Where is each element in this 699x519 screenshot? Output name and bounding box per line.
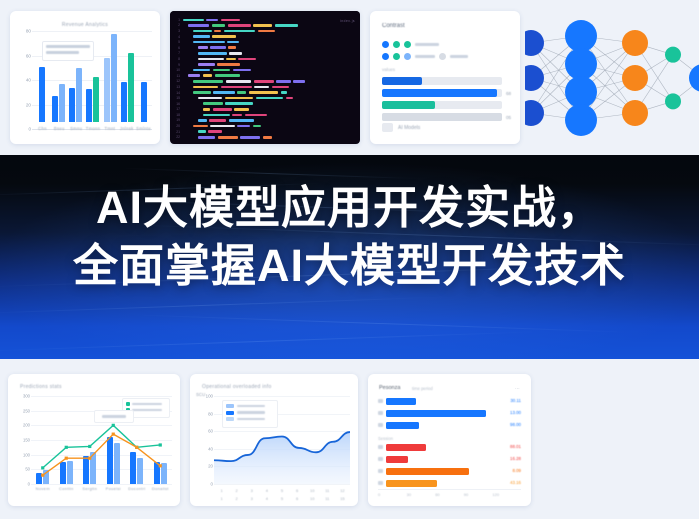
x-tick: Bseu [51,126,68,136]
code-token [272,86,289,89]
y-tick: 0 [28,482,30,487]
gridline [31,484,172,485]
code-token [193,69,210,72]
progress-track-4 [382,113,502,121]
code-token [203,102,223,105]
progress-fill-2 [382,89,497,97]
bar-chart-bars [34,24,152,122]
area-legend-entry-2 [226,411,274,415]
y-tick: 200 [23,423,30,428]
y-tick: 40 [26,78,31,83]
bar [59,84,65,122]
code-token [193,35,210,38]
code-token [206,19,218,22]
data-point [159,443,162,446]
bottom-screenshot-strip: Predictions stats 300250200150100500 Nov… [0,359,699,519]
code-token [210,46,225,49]
x-tick: Novem [31,486,55,491]
data-point [88,457,91,460]
code-token [203,108,210,111]
nn-node [622,30,648,56]
code-token [254,80,274,83]
data-point [65,457,68,460]
hbar-value: 16.28 [510,456,521,461]
bar-group [85,24,100,122]
legend-dot-grey [439,53,446,60]
x-tick: 10 [305,488,320,493]
nn-node [565,104,597,136]
bar-group [34,24,49,122]
dashboard-legend-row-2 [382,53,468,60]
code-editor-card[interactable]: index.js 1234567891011121314151617181920… [170,11,360,144]
bar-chart-legend [42,41,94,61]
hbar-row: 16.28 [378,456,521,463]
code-token [225,102,253,105]
x-tick: 1 [214,488,229,493]
title-line-2: 全面掌握AI大模型开发技术 [0,237,699,295]
hbar-row-label [378,411,383,415]
progress-fill-3 [382,101,435,109]
combo-chart-y-axis: 300250200150100500 [12,396,30,484]
code-token [227,41,239,44]
line-number: 9 [174,63,183,67]
y-tick: 250 [23,408,30,413]
hbar-bar [386,444,426,451]
code-token [293,80,305,83]
bar-group [103,24,118,122]
hbar-axis-line [378,489,521,490]
code-token [198,46,208,49]
deco-line [120,314,640,333]
progress-track-2 [382,89,502,97]
code-token [233,69,251,72]
line-number: 21 [174,130,183,134]
y-tick: 60 [208,429,213,434]
x-tick-alt: 3 [244,496,259,501]
code-token [226,58,236,61]
code-token [276,80,290,83]
code-token [198,52,227,55]
bar [69,88,75,122]
data-point [159,464,162,467]
hbar-row: 43.16 [378,480,521,487]
line-number: 2 [174,23,183,27]
code-token [193,125,208,128]
progress-fill-4 [382,113,502,121]
x-tick: 0 [378,492,407,497]
data-point [135,446,138,449]
x-tick: 120 [492,492,521,497]
area-legend-entry-1 [226,404,274,408]
y-tick: 100 [206,394,213,399]
legend-label-1 [415,43,439,46]
hbar-bar [386,456,408,463]
code-token [238,58,256,61]
area-fill [214,432,350,484]
code-editor-content[interactable]: 1234567891011121314151617181920212223242… [174,17,356,141]
hbar-row: 8.09 [378,468,521,475]
code-token [208,130,222,133]
gridline [214,484,350,485]
line-number: 22 [174,135,183,139]
deco-line [0,297,435,314]
code-token [281,91,288,94]
code-token [229,119,255,122]
code-token [214,30,221,33]
combo-legend-entry-1 [126,402,166,406]
bar [86,89,92,122]
code-token [253,125,261,128]
y-tick: 20 [208,464,213,469]
line-number: 3 [174,29,183,33]
combo-chart-x-axis: NovemContlinSergtinPouelsiDocontriDonali… [31,486,172,491]
code-token [286,97,293,100]
line-number: 11 [174,74,183,78]
line-number: 17 [174,107,183,111]
legend-label-3 [450,55,468,58]
dashboard-legend-row-1 [382,41,439,48]
hbar-row: 88.01 [378,444,521,451]
code-token [213,69,230,72]
x-tick: Jnlnsk [118,126,135,136]
legend-label-2 [415,55,435,58]
code-token [229,52,241,55]
bar [52,96,58,122]
x-tick: 6 [290,488,305,493]
deco-line [120,168,420,179]
code-token [188,24,209,27]
x-tick-alt: 5 [274,496,289,501]
title-line-1: AI大模型应用开发实战， [96,182,603,233]
x-tick: Tmonn [85,126,102,136]
legend-dot-blue-2 [382,53,389,60]
x-tick: 30 [407,492,436,497]
nn-node [665,47,681,63]
x-tick-alt: 11 [320,496,335,501]
hbar-value: 13.00 [510,410,521,415]
code-token [234,108,249,111]
code-token [221,19,240,22]
x-tick-alt: 2 [229,496,244,501]
nn-node [525,30,544,56]
nn-node [565,48,597,80]
code-token [193,86,218,89]
data-point [65,446,68,449]
code-token [224,30,255,33]
hbar-bar [386,398,416,405]
code-token [253,24,272,27]
data-point [112,424,115,427]
y-tick: 20 [26,102,31,107]
bar [141,82,147,122]
line-number: 6 [174,46,183,50]
y-tick: 50 [25,467,30,472]
line-number: 7 [174,51,183,55]
y-tick: 0 [28,127,31,132]
line-number: 20 [174,124,183,128]
x-tick: 11 [320,488,335,493]
promo-banner-page: Revenue Analytics 806040200 ChnBseuSmnuT… [0,0,699,519]
hbar-row-label [378,481,383,485]
title-banner: AI大模型应用开发实战， 全面掌握AI大模型开发技术 [0,155,699,359]
area-chart-legend [222,400,278,428]
code-token [245,114,267,117]
dashboard-footer: AI Models [382,123,420,132]
bar-chart-x-axis: ChnBseuSmnuTmonnTmntJnlnskSmlnte [34,126,152,136]
y-tick: 150 [23,438,30,443]
code-token [203,74,212,77]
x-tick: Chn [34,126,51,136]
progress-track-3 [382,101,502,109]
hbar-row-label [378,445,383,449]
nn-node [525,100,544,126]
bar [104,58,110,122]
code-token [258,30,276,33]
hbar-bar [386,422,419,429]
hbar-row-label [378,423,383,427]
bar [39,67,45,122]
data-point [88,445,91,448]
code-token [210,125,235,128]
x-tick: 2 [229,488,244,493]
code-token [215,74,241,77]
x-tick: Smnu [68,126,85,136]
combo-chart-card[interactable]: Predictions stats 300250200150100500 Nov… [8,374,180,506]
code-token [209,119,226,122]
line-number: 16 [174,102,183,106]
x-tick-alt: 10 [305,496,320,501]
x-tick: 5 [274,488,289,493]
area-chart-x-axis: 123456101112 [214,488,350,493]
combo-chart-tooltip [94,410,134,423]
legend-entry-1 [46,45,90,48]
line-number: 19 [174,118,183,122]
bar [111,34,117,122]
line-number: 8 [174,57,183,61]
bar-group [137,24,152,122]
y-tick: 60 [26,53,31,58]
x-tick: Donalist [149,486,173,491]
x-tick: Tmnt [101,126,118,136]
x-tick: 60 [435,492,464,497]
footer-chip-icon [382,123,393,132]
y-tick: 80 [208,411,213,416]
legend-dot-green-2 [404,41,411,48]
x-tick: 90 [464,492,493,497]
code-token [240,136,260,139]
metrics-dashboard-card[interactable]: Contrast values 68 [370,11,520,144]
hbar-bar [386,468,469,475]
hbar-subtitle: time period [412,386,433,391]
x-tick: Sergtin [78,486,102,491]
hbar-bar [386,410,486,417]
line-number: 10 [174,68,183,72]
area-legend-entry-3 [226,417,274,421]
x-tick: Pouelsi [102,486,126,491]
code-token [218,136,238,139]
line-number: 15 [174,96,183,100]
nn-node [565,20,597,52]
x-tick: Smlnte [135,126,152,136]
hbar-row: 30.11 [378,398,521,405]
data-point [112,433,115,436]
page-title: AI大模型应用开发实战， 全面掌握AI大模型开发技术 [0,179,699,295]
nn-node [622,65,648,91]
area-chart-title: Operational overloaded info [202,384,272,390]
code-token [249,91,278,94]
code-token [228,24,251,27]
code-token [232,114,242,117]
line-number: 13 [174,85,183,89]
legend-dot-blue [382,41,389,48]
x-tick-alt: 1 [214,496,229,501]
bar [93,77,99,122]
hbar-section-label: Session [378,436,393,441]
top-screenshot-strip: Revenue Analytics 806040200 ChnBseuSmnuT… [0,0,699,155]
code-token [275,24,298,27]
hbar-value: 98.00 [510,422,521,427]
bar-group [120,24,135,122]
code-token [213,108,232,111]
legend-dot-lightblue [404,53,411,60]
legend-dot-green-3 [393,53,400,60]
code-token [193,30,212,33]
code-token [263,136,272,139]
y-tick: 80 [26,29,31,34]
hbar-row-label [378,469,383,473]
line-number: 18 [174,113,183,117]
bar-group [68,24,83,122]
code-token [198,119,207,122]
code-token [212,24,225,27]
y-tick: 40 [208,446,213,451]
code-token [212,35,235,38]
nn-node [565,76,597,108]
code-token [198,63,215,66]
line-number: 1 [174,18,183,22]
code-token [183,19,204,22]
data-point [41,466,44,469]
y-tick: 100 [23,452,30,457]
y-tick: 0 [211,482,213,487]
line-number: 12 [174,79,183,83]
progress-fill-1 [382,77,422,85]
bar-chart-card[interactable]: Revenue Analytics 806040200 ChnBseuSmnuT… [10,11,160,144]
code-token [228,46,236,49]
code-token [225,97,254,100]
bar [128,53,134,122]
area-chart-y-axis: 100806040200 [194,396,213,484]
ellipsis-icon[interactable]: ⋯ [515,386,520,392]
code-token [203,114,230,117]
line-number: 4 [174,35,183,39]
progress-track-1 [382,77,502,85]
nn-node [665,93,681,109]
code-token [193,41,225,44]
x-tick: Contlin [55,486,79,491]
deco-line [0,331,545,352]
code-token [188,74,200,77]
code-token [237,91,246,94]
x-tick: Docontri [125,486,149,491]
line-number: 5 [174,40,183,44]
data-point [41,474,44,477]
bar [121,82,127,122]
hbar-row: 13.00 [378,410,521,417]
nn-node [622,100,648,126]
bar [76,68,82,122]
trend-line [43,434,161,475]
dashboard-title: Contrast [382,23,405,29]
area-chart-card[interactable]: Operational overloaded info SCU 10080604… [190,374,358,506]
code-token [198,97,222,100]
progress-value-2: 68 [506,91,511,96]
code-line: 23 [174,140,356,141]
x-tick: 4 [259,488,274,493]
combo-chart-title: Predictions stats [20,384,62,390]
hbar-row-label [378,457,383,461]
hbar-x-axis: 0306090120 [378,492,521,497]
hbar-row-label [378,399,383,403]
hbar-row: 98.00 [378,422,521,429]
code-token [198,136,215,139]
code-token [217,63,240,66]
legend-dot-green [393,41,400,48]
footer-label: AI Models [398,125,420,131]
code-token [221,86,252,89]
x-tick: 12 [335,488,350,493]
x-tick-alt: 15 [335,496,350,501]
neural-network-top-diagram [525,0,699,155]
progress-value-4: 05 [506,115,511,120]
horizontal-bar-card[interactable]: Pesonza time period ⋯ 30.1113.0098.0088.… [368,374,531,506]
hbar-value: 8.09 [512,468,521,473]
bar-chart-y-axis: 806040200 [14,31,31,129]
hbar-bar [386,480,437,487]
code-token [198,58,224,61]
code-token [226,80,251,83]
area-chart-x-axis-alt: 123456101115 [214,496,350,501]
x-tick-alt: 4 [259,496,274,501]
line-number: 14 [174,91,183,95]
nn-node [525,65,544,91]
hbar-title: Pesonza [379,385,400,391]
y-tick: 300 [23,394,30,399]
dashboard-section-label: values [382,67,395,72]
hbar-value: 43.16 [510,480,521,485]
code-token [237,125,250,128]
code-token [193,80,223,83]
x-tick: 3 [244,488,259,493]
code-token [254,86,269,89]
code-token [198,130,206,133]
legend-entry-2 [46,51,79,54]
code-token [213,91,234,94]
x-tick-alt: 6 [290,496,305,501]
code-token [256,97,284,100]
bar-group [51,24,66,122]
hbar-value: 88.01 [510,444,521,449]
hbar-value: 30.11 [510,398,521,403]
code-token [193,91,211,94]
